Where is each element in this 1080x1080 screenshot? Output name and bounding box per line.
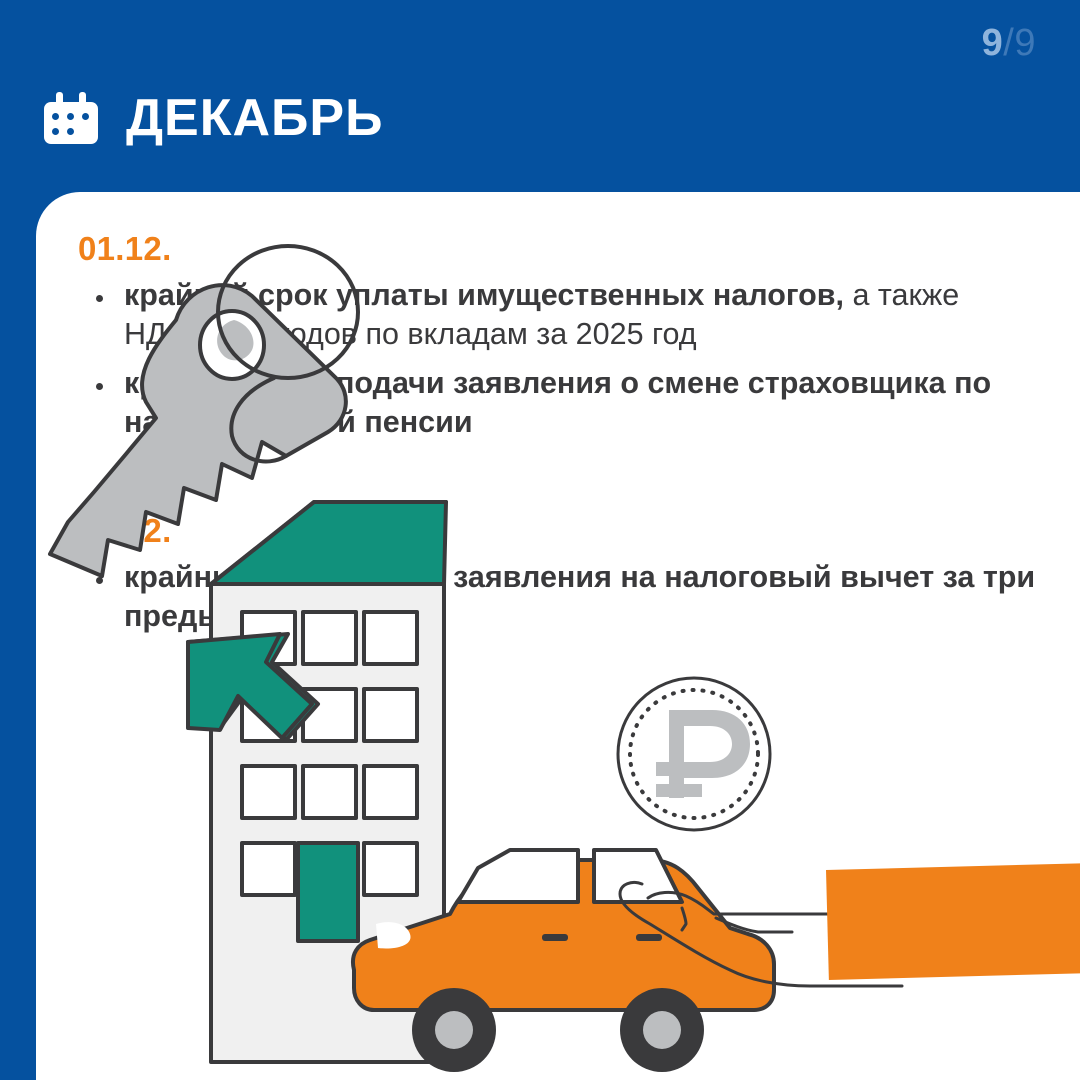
list-item: крайний срок уплаты имущественных налого… xyxy=(78,276,1043,354)
bullet-list: крайний срок подачи заявления на налогов… xyxy=(78,558,1043,636)
calendar-dot xyxy=(52,128,59,135)
house-arrow-icon xyxy=(188,634,318,740)
bullet-dot-icon xyxy=(96,383,103,390)
calendar-dot xyxy=(67,128,74,135)
calendar-icon xyxy=(44,92,98,144)
page-title: ДЕКАБРЬ xyxy=(126,92,383,144)
header: ДЕКАБРЬ xyxy=(44,92,383,144)
bullet-list: крайний срок уплаты имущественных налого… xyxy=(78,276,1043,442)
list-item-bold: крайний срок подачи заявления на налогов… xyxy=(124,560,1035,633)
slide-root: 9/9 ДЕКАБРЬ 01.12. крайний срок уплаты xyxy=(0,0,1080,1080)
orange-car-icon xyxy=(353,850,774,1072)
calendar-body xyxy=(44,102,98,144)
ruble-symbol xyxy=(656,710,750,798)
content-card: 01.12. крайний срок уплаты имущественных… xyxy=(36,192,1080,1080)
page-counter-total: 9 xyxy=(1014,22,1036,64)
date-label: 01.12. xyxy=(78,230,1043,268)
date-label: 31.12. xyxy=(78,512,1043,550)
open-hand-icon xyxy=(620,882,902,986)
bullet-dot-icon xyxy=(96,577,103,584)
page-counter-current: 9 xyxy=(982,22,1004,64)
ruble-coin-icon xyxy=(618,678,770,830)
calendar-dot xyxy=(67,113,74,120)
calendar-dot xyxy=(52,113,59,120)
orange-sleeve xyxy=(826,863,1080,980)
date-block-1: 01.12. крайний срок уплаты имущественных… xyxy=(78,230,1043,442)
list-item: крайний срок подачи заявления на налогов… xyxy=(78,558,1043,636)
calendar-dot xyxy=(82,113,89,120)
date-block-2: 31.12. крайний срок подачи заявления на … xyxy=(78,512,1043,636)
page-counter: 9/9 xyxy=(982,22,1036,65)
list-item-bold: крайний срок уплаты имущественных налого… xyxy=(124,278,844,312)
list-item: крайний срок подачи заявления о смене ст… xyxy=(78,364,1043,442)
list-item-bold: крайний срок подачи заявления о смене ст… xyxy=(124,366,991,439)
page-counter-separator: / xyxy=(1003,22,1014,64)
bullet-dot-icon xyxy=(96,295,103,302)
